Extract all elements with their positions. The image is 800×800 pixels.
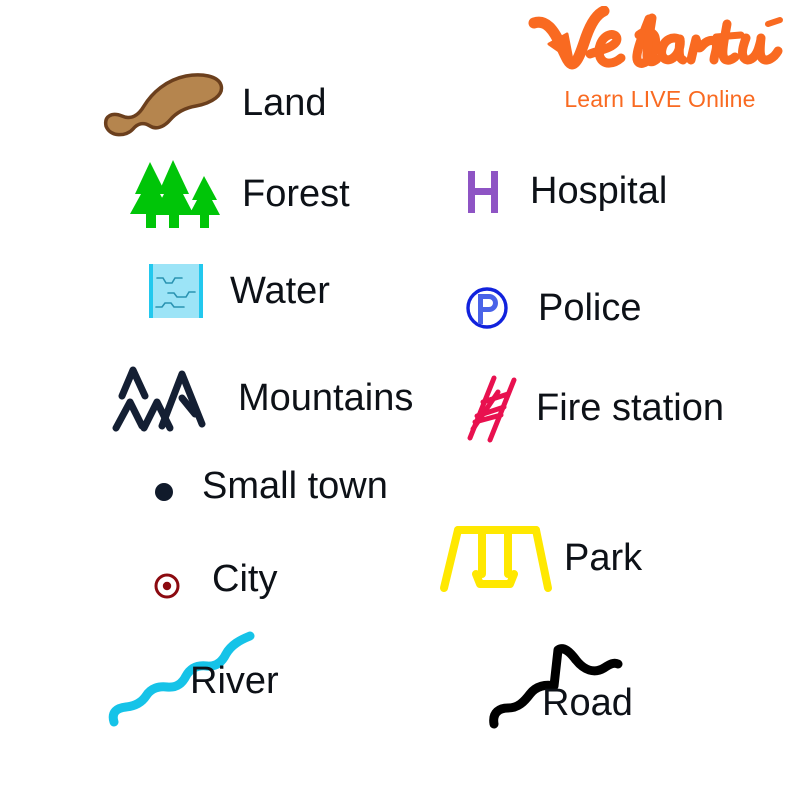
legend-label-forest: Forest <box>242 175 350 213</box>
legend-label-land: Land <box>242 84 327 122</box>
legend-item-water: Water <box>146 262 330 320</box>
land-blob-icon <box>100 66 228 140</box>
legend-label-city: City <box>212 560 277 598</box>
vedantu-logo: Learn LIVE Online <box>528 6 792 118</box>
legend-item-park: Park <box>436 516 642 598</box>
legend-label-water: Water <box>230 272 330 310</box>
swing-set-icon <box>436 516 558 598</box>
legend-label-police: Police <box>538 289 642 327</box>
legend-label-park: Park <box>564 539 642 577</box>
ringed-dot-icon <box>152 552 182 606</box>
mountain-peaks-icon <box>100 362 222 434</box>
circled-p-icon <box>462 282 512 334</box>
pine-trees-icon <box>128 158 228 230</box>
vedantu-wordmark-icon <box>528 6 792 84</box>
legend-item-land: Land <box>100 66 327 140</box>
map-legend-page: Learn LIVE Online Land Fore <box>0 0 800 800</box>
legend-label-river: River <box>190 662 279 700</box>
legend-label-road: Road <box>542 684 633 722</box>
legend-item-fire-station: Fire station <box>462 372 724 444</box>
legend-item-city: City <box>152 552 277 606</box>
legend-item-forest: Forest <box>128 158 350 230</box>
brand-tagline: Learn LIVE Online <box>528 86 792 113</box>
legend-item-road: Road <box>484 636 633 736</box>
legend-item-river: River <box>104 618 279 728</box>
ladder-icon <box>462 372 524 444</box>
filled-dot-icon <box>152 462 176 510</box>
legend-item-police: Police <box>462 282 642 334</box>
legend-label-hospital: Hospital <box>530 172 667 210</box>
legend-item-small-town: Small town <box>152 462 388 510</box>
water-square-icon <box>146 262 208 320</box>
legend-label-fire-station: Fire station <box>536 389 724 427</box>
letter-h-icon <box>462 165 504 217</box>
legend-item-mountains: Mountains <box>100 362 413 434</box>
legend-item-hospital: Hospital <box>462 165 667 217</box>
legend-label-mountains: Mountains <box>238 379 413 417</box>
legend-label-small-town: Small town <box>202 467 388 505</box>
